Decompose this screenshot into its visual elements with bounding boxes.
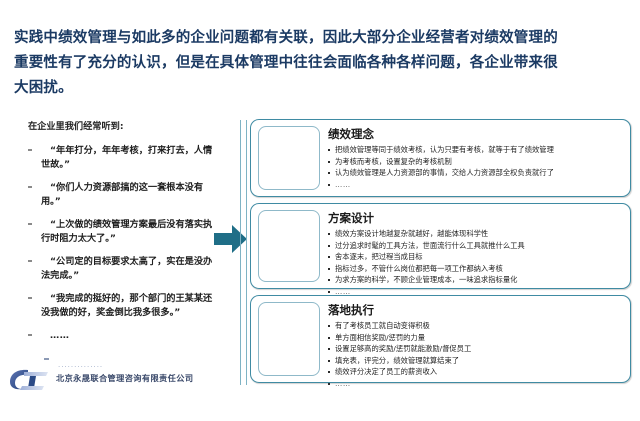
quote-text: “我完成的挺好的，那个部门的王某某还没我做的好，奖金倒比我多很多。” bbox=[41, 292, 220, 319]
header-line-1: 实践中绩效管理与如此多的企业问题都有关联，因此大部分企业经营者对绩效管理的 bbox=[14, 26, 626, 51]
quotes-panel: 在企业里我们经常听到: “年年打分，年年考核，打来打去，人情世故。” “你们人力… bbox=[28, 120, 220, 353]
card-bullet-more: …… bbox=[328, 179, 622, 191]
card-scheme-design[interactable]: 方案设计 绩效方案设计地越复杂就越好，越能体现科学性 过分追求时髦的工具方法，世… bbox=[250, 203, 631, 289]
card-performance-concept[interactable]: 绩效理念 把绩效管理等同于绩效考核，认为只要有考核，就等于有了绩效管理 为考核而… bbox=[250, 119, 631, 197]
card-bullet: 有了考核员工就自动变得积极 bbox=[328, 320, 622, 332]
quote-text: …… bbox=[41, 329, 220, 343]
card-bullet: 指标过多，不管什么岗位都把每一项工作都纳入考核 bbox=[328, 263, 622, 275]
card-bullet-list: 把绩效管理等同于绩效考核，认为只要有考核，就等于有了绩效管理 为考核而考核，设置… bbox=[328, 144, 622, 190]
dash-bullet-icon bbox=[28, 218, 41, 225]
quote-text: “公司定的目标要求太高了，实在是没办法完成。” bbox=[41, 255, 220, 282]
card-bullet: 单方面相信奖励/惩罚的力量 bbox=[328, 332, 622, 344]
card-bullet-list: 绩效方案设计地越复杂就越好，越能体现科学性 过分追求时髦的工具方法，世面流行什么… bbox=[328, 228, 622, 298]
company-logo: 北京永晟联合管理咨询有限责任公司 bbox=[8, 362, 238, 396]
card-bullet-list: 有了考核员工就自动变得积极 单方面相信奖励/惩罚的力量 设置足够高的奖励/惩罚就… bbox=[328, 320, 622, 390]
card-body: 绩效理念 把绩效管理等同于绩效考核，认为只要有考核，就等于有了绩效管理 为考核而… bbox=[328, 126, 622, 190]
card-bullet: 为求方案的科学，不顾企业管理成本，一味追求指标量化 bbox=[328, 274, 622, 286]
card-body: 方案设计 绩效方案设计地越复杂就越好，越能体现科学性 过分追求时髦的工具方法，世… bbox=[328, 210, 622, 298]
card-bullet: 绩效评分决定了员工的薪资收入 bbox=[328, 366, 622, 378]
card-title: 落地执行 bbox=[328, 303, 622, 317]
list-item: “我完成的挺好的，那个部门的王某某还没我做的好，奖金倒比我多很多。” bbox=[28, 292, 220, 319]
quote-text: “年年打分，年年考核，打来打去，人情世故。” bbox=[41, 144, 220, 171]
list-item: “你们人力资源部搞的这一套根本没有用。” bbox=[28, 181, 220, 208]
list-item: “年年打分，年年考核，打来打去，人情世故。” bbox=[28, 144, 220, 171]
dash-bullet-icon bbox=[28, 181, 41, 188]
card-bullet: 过分追求时髦的工具方法，世面流行什么工具就推什么工具 bbox=[328, 240, 622, 252]
vertical-divider-right bbox=[246, 120, 247, 385]
card-bullet-more: …… bbox=[328, 378, 622, 390]
issues-panel: 绩效理念 把绩效管理等同于绩效考核，认为只要有考核，就等于有了绩效管理 为考核而… bbox=[250, 119, 631, 389]
card-image-placeholder bbox=[258, 126, 320, 190]
right-arrow-icon bbox=[214, 222, 248, 256]
card-implementation[interactable]: 落地执行 有了考核员工就自动变得积极 单方面相信奖励/惩罚的力量 设置足够高的奖… bbox=[250, 295, 631, 383]
quote-text: “上次做的绩效管理方案最后没有落实执行时阻力太大了。” bbox=[41, 218, 220, 245]
card-bullet: 绩效方案设计地越复杂就越好，越能体现科学性 bbox=[328, 228, 622, 240]
header-line-3: 大困扰。 bbox=[14, 76, 626, 101]
card-image-placeholder bbox=[258, 302, 320, 376]
card-bullet: 为考核而考核，设置复杂的考核机制 bbox=[328, 156, 622, 168]
card-body: 落地执行 有了考核员工就自动变得积极 单方面相信奖励/惩罚的力量 设置足够高的奖… bbox=[328, 302, 622, 390]
dash-bullet-icon bbox=[28, 292, 41, 299]
logo-tick-mark bbox=[44, 358, 49, 360]
list-item: “上次做的绩效管理方案最后没有落实执行时阻力太大了。” bbox=[28, 218, 220, 245]
dash-bullet-icon bbox=[28, 329, 41, 336]
card-bullet: 填充表，评完分，绩效管理就算结束了 bbox=[328, 355, 622, 367]
card-bullet: 把绩效管理等同于绩效考核，认为只要有考核，就等于有了绩效管理 bbox=[328, 144, 622, 156]
slide-header: 实践中绩效管理与如此多的企业问题都有关联，因此大部分企业经营者对绩效管理的 重要… bbox=[14, 26, 626, 101]
dash-bullet-icon bbox=[28, 144, 41, 151]
list-item: “公司定的目标要求太高了，实在是没办法完成。” bbox=[28, 255, 220, 282]
logo-mark-icon bbox=[8, 366, 54, 392]
dash-bullet-icon bbox=[28, 255, 41, 262]
card-title: 方案设计 bbox=[328, 211, 622, 225]
card-bullet: 舍本逐末，把过程当成目标 bbox=[328, 251, 622, 263]
quote-text: “你们人力资源部搞的这一套根本没有用。” bbox=[41, 181, 220, 208]
header-line-2: 重要性有了充分的认识，但是在具体管理中往往会面临各种各样问题，各企业带来很 bbox=[14, 51, 626, 76]
vertical-divider-left bbox=[240, 120, 241, 385]
card-bullet: 设置足够高的奖励/惩罚就能激励/督促员工 bbox=[328, 343, 622, 355]
quotes-intro-label: 在企业里我们经常听到: bbox=[28, 120, 220, 133]
card-image-placeholder bbox=[258, 210, 320, 282]
card-title: 绩效理念 bbox=[328, 127, 622, 141]
card-bullet: 认为绩效管理是人力资源部的事情，交给人力资源部全权负责就行了 bbox=[328, 167, 622, 179]
company-name: 北京永晟联合管理咨询有限责任公司 bbox=[56, 372, 193, 386]
list-item: …… bbox=[28, 329, 220, 343]
